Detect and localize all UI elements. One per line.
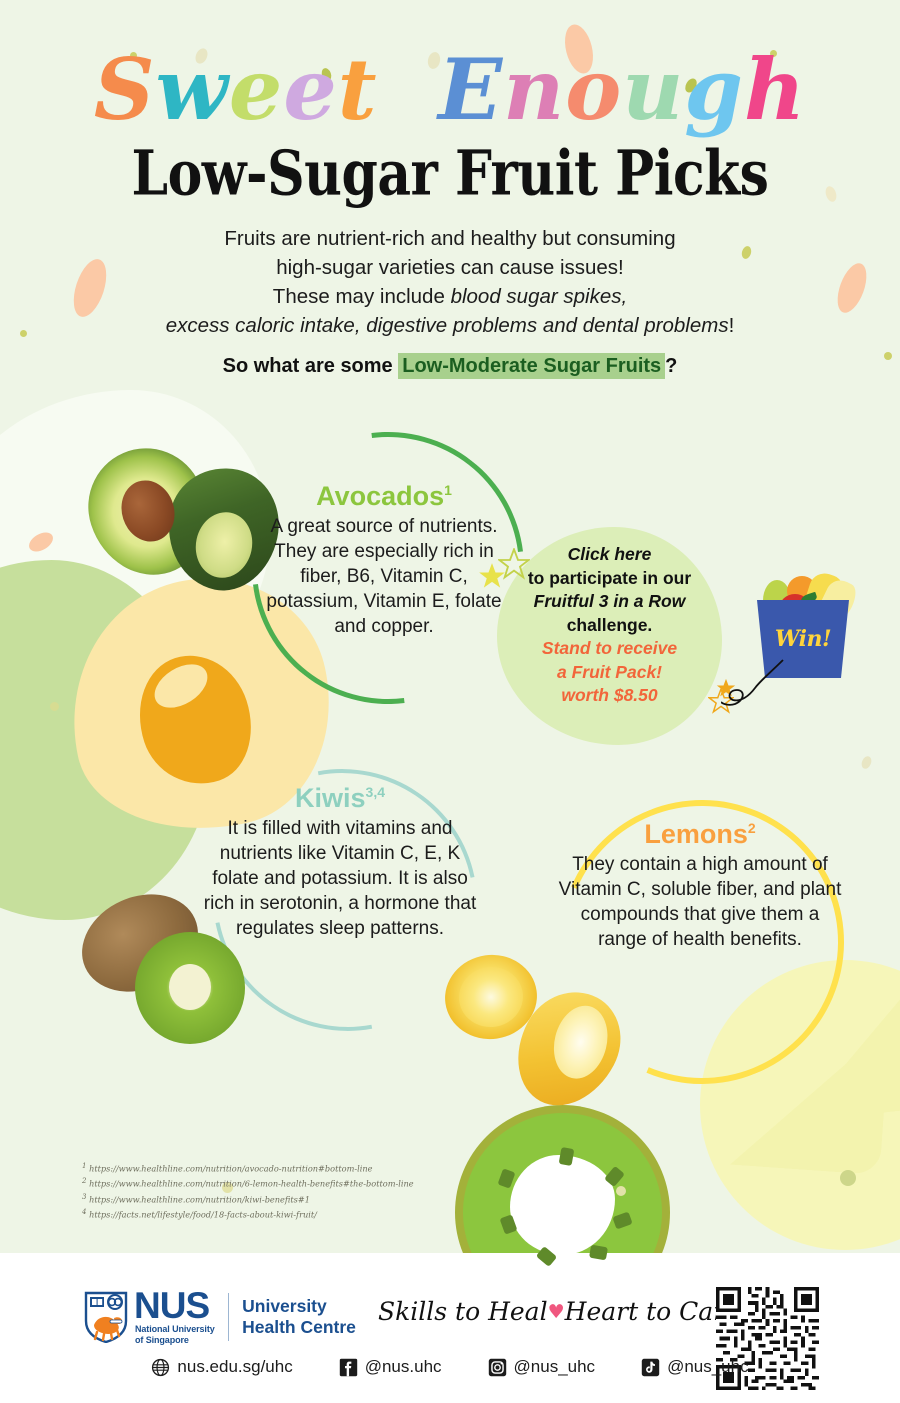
lemon-title: Lemons2 — [555, 820, 845, 850]
lemon-title-text: Lemons — [644, 819, 748, 849]
promo-line-6: a Fruit Pack! — [497, 661, 722, 685]
nus-crest-icon — [84, 1291, 128, 1343]
kiwi-title: Kiwis3,4 — [200, 784, 480, 814]
social-item-instagram[interactable]: @nus_uhc — [488, 1357, 596, 1377]
infographic-poster: Sweet Enough Low-Sugar Fruit Picks Fruit… — [0, 0, 900, 1403]
title-letter-7: n — [503, 48, 565, 132]
promo-line-7: worth $8.50 — [497, 684, 722, 708]
promo-line-4: challenge. — [497, 614, 722, 638]
avocado-title-text: Avocados — [316, 481, 444, 511]
website-label: nus.edu.sg/uhc — [177, 1357, 292, 1377]
title-letter-4: t — [338, 48, 378, 132]
lemon-ref: 2 — [748, 820, 756, 836]
card-avocado: Avocados1 A great source of nutrients. T… — [253, 482, 515, 639]
lemon-body: They contain a high amount of Vitamin C,… — [555, 852, 845, 952]
avocado-title: Avocados1 — [253, 482, 515, 512]
instagram-label: @nus_uhc — [514, 1357, 596, 1377]
decor-kiwi-seed — [589, 1245, 608, 1261]
unit-name-line-2: Health Centre — [242, 1317, 356, 1338]
page-title: Sweet Enough Low-Sugar Fruit Picks — [0, 48, 900, 199]
social-links: nus.edu.sg/uhc @nus.uhc @nus_uhc @nus_ — [0, 1357, 900, 1377]
kiwi-ref: 3,4 — [366, 784, 385, 800]
avocado-body: A great source of nutrients. They are es… — [253, 514, 515, 639]
question-suffix: ? — [665, 355, 677, 377]
title-letter-8: o — [565, 48, 622, 132]
kiwi-body: It is filled with vitamins and nutrients… — [200, 816, 480, 941]
title-letter-10: g — [684, 48, 744, 132]
unit-name-line-1: University — [242, 1296, 356, 1317]
intro-line-4-italic: excess caloric intake, digestive problem… — [166, 314, 729, 337]
reference-url: https://www.healthline.com/nutrition/avo… — [89, 1164, 372, 1174]
intro-line-4-end: ! — [729, 314, 735, 337]
kiwi-title-text: Kiwis — [295, 783, 366, 813]
facebook-icon — [339, 1358, 358, 1377]
title-letter-11: h — [744, 48, 806, 132]
reference-number: 4 — [82, 1208, 86, 1216]
promo-line-2: to participate in our — [497, 567, 722, 591]
win-bag-graphic: Win! — [745, 572, 861, 680]
promo-text[interactable]: Click here to participate in our Fruitfu… — [497, 543, 722, 708]
reference-url: https://www.healthline.com/nutrition/kiw… — [89, 1194, 310, 1204]
card-kiwi: Kiwis3,4 It is filled with vitamins and … — [200, 784, 480, 941]
title-letter-9: u — [622, 48, 684, 132]
nus-wordmark: NUS — [134, 1289, 215, 1323]
win-bag-label: Win! — [753, 626, 853, 652]
kiwi-cut-photo — [135, 932, 245, 1044]
title-letter-0: S — [94, 48, 156, 132]
reference-number: 1 — [82, 1162, 86, 1170]
tagline-part-2: Heart to Care — [565, 1297, 740, 1326]
tiktok-label: @nus_uhc — [667, 1357, 749, 1377]
logo-divider — [228, 1293, 230, 1341]
intro-line-3-italic: blood sugar spikes, — [451, 285, 628, 308]
tagline: Skills to Heal♥Heart to Care — [378, 1297, 678, 1326]
tiktok-icon — [641, 1358, 660, 1377]
nus-sub-line-2: of Singapore — [135, 1335, 215, 1345]
social-item-facebook[interactable]: @nus.uhc — [339, 1357, 442, 1377]
question-highlight: Low-Moderate Sugar Fruits — [398, 353, 665, 379]
globe-icon — [151, 1358, 170, 1377]
reference-number: 3 — [82, 1193, 86, 1201]
confetti-dot — [616, 1186, 626, 1196]
intro-line-3-plain: These may include — [273, 285, 451, 308]
intro-line-1: Fruits are nutrient-rich and healthy but… — [0, 224, 900, 253]
social-item-tiktok[interactable]: @nus_uhc — [641, 1357, 749, 1377]
instagram-icon — [488, 1358, 507, 1377]
intro-line-3: These may include blood sugar spikes, — [0, 282, 900, 311]
tagline-part-1: Skills to Heal — [378, 1297, 548, 1326]
question-prefix: So what are some — [223, 355, 399, 377]
title-letter-2: e — [229, 48, 283, 132]
promo-line-5: Stand to receive — [497, 637, 722, 661]
reference-url: https://www.healthline.com/nutrition/6-l… — [89, 1179, 414, 1189]
question-line: So what are some Low-Moderate Sugar Frui… — [0, 355, 900, 378]
intro-line-4: excess caloric intake, digestive problem… — [0, 311, 900, 340]
heart-icon: ♥ — [548, 1301, 565, 1323]
reference-number: 2 — [82, 1177, 86, 1185]
avocado-ref: 1 — [444, 482, 452, 498]
title-letter-5 — [378, 48, 439, 132]
promo-click-here[interactable]: Click here — [497, 543, 722, 567]
facebook-label: @nus.uhc — [365, 1357, 442, 1377]
confetti-dot — [840, 1170, 856, 1186]
nus-logo: NUS National University of Singapore Uni… — [84, 1286, 384, 1348]
intro-line-2: high-sugar varieties can cause issues! — [0, 253, 900, 282]
promo-click-here-text[interactable]: Click here — [568, 543, 652, 567]
social-item-website[interactable]: nus.edu.sg/uhc — [151, 1357, 292, 1377]
reference-url: https://facts.net/lifestyle/food/18-fact… — [89, 1210, 317, 1220]
promo-challenge-name: Fruitful 3 in a Row — [497, 590, 722, 614]
bag-string-icon — [721, 658, 801, 708]
title-subtitle: Low-Sugar Fruit Picks — [0, 138, 900, 210]
confetti-dot — [50, 702, 59, 711]
title-script: Sweet Enough — [0, 48, 900, 132]
intro-paragraph: Fruits are nutrient-rich and healthy but… — [0, 224, 900, 340]
nus-sub-line-1: National University — [135, 1324, 215, 1334]
title-letter-6: E — [438, 48, 503, 132]
card-lemon: Lemons2 They contain a high amount of Vi… — [555, 820, 845, 952]
title-letter-1: w — [156, 48, 229, 132]
title-letter-3: e — [283, 48, 337, 132]
